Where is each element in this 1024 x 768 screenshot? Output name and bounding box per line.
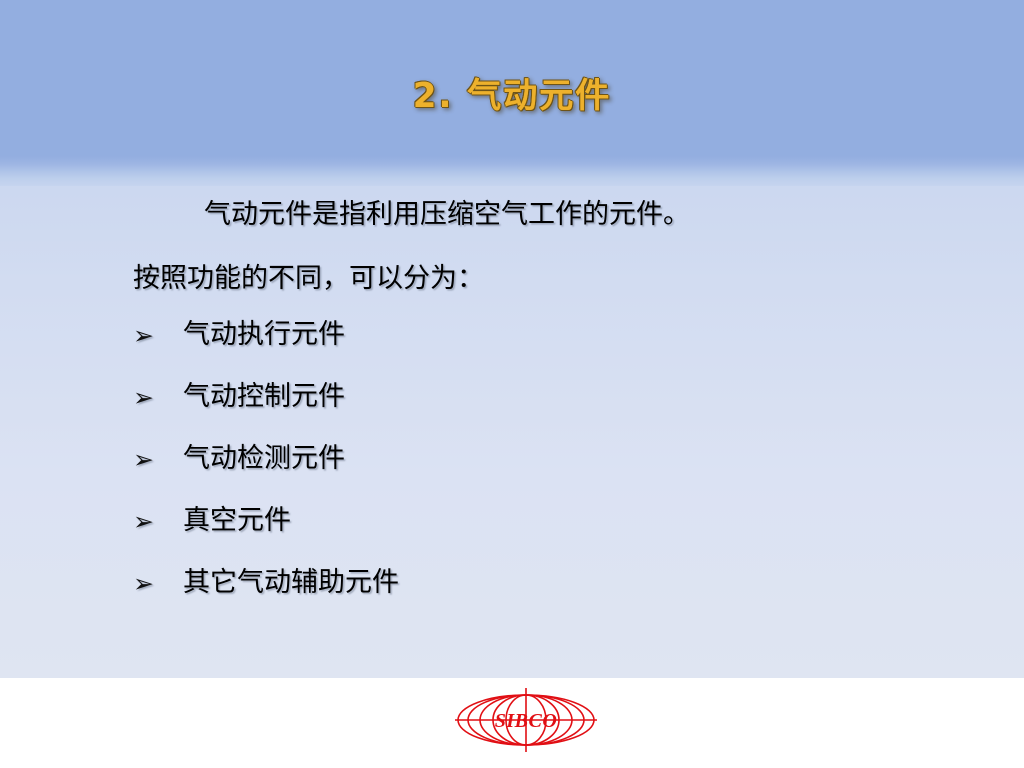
list-item-label: 气动检测元件 <box>183 442 345 476</box>
slide-title: 2. 气动元件 <box>0 68 1024 117</box>
list-item: ➢ 气动执行元件 <box>133 318 833 380</box>
list-item-label: 其它气动辅助元件 <box>183 566 399 600</box>
arrow-bullet-icon: ➢ <box>133 318 183 351</box>
list-item-label: 气动执行元件 <box>183 318 345 352</box>
sibco-logo: SIBCO <box>455 686 597 754</box>
list-item: ➢ 真空元件 <box>133 504 833 566</box>
list-item-label: 真空元件 <box>183 504 291 538</box>
arrow-bullet-icon: ➢ <box>133 504 183 537</box>
classification-paragraph: 按照功能的不同，可以分为： <box>133 262 484 294</box>
list-item-label: 气动控制元件 <box>183 380 345 414</box>
bullet-list: ➢ 气动执行元件 ➢ 气动控制元件 ➢ 气动检测元件 ➢ 真空元件 ➢ 其它气动… <box>133 318 833 628</box>
list-item: ➢ 气动检测元件 <box>133 442 833 504</box>
arrow-bullet-icon: ➢ <box>133 566 183 599</box>
slide-canvas: 2. 气动元件 气动元件是指利用压缩空气工作的元件。 按照功能的不同，可以分为：… <box>0 0 1024 768</box>
arrow-bullet-icon: ➢ <box>133 380 183 413</box>
list-item: ➢ 气动控制元件 <box>133 380 833 442</box>
intro-paragraph: 气动元件是指利用压缩空气工作的元件。 <box>204 198 690 230</box>
list-item: ➢ 其它气动辅助元件 <box>133 566 833 628</box>
logo-wordmark: SIBCO <box>495 710 558 732</box>
arrow-bullet-icon: ➢ <box>133 442 183 475</box>
slide-body: 气动元件是指利用压缩空气工作的元件。 按照功能的不同，可以分为： ➢ 气动执行元… <box>0 186 1024 678</box>
